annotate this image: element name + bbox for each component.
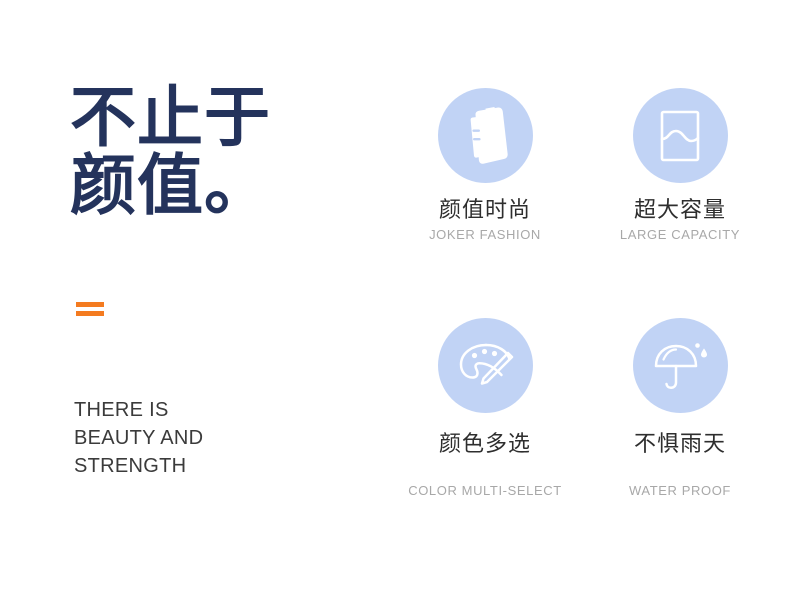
headline-period-mark: 。: [204, 148, 270, 222]
feature-title: 颜色多选: [390, 431, 580, 457]
umbrella-rain-icon: [652, 339, 708, 393]
tagline-line-2: BEAUTY AND: [74, 424, 203, 452]
feature-icon-circle: [633, 88, 728, 183]
feature-item-capacity: 超大容量 LARGE CAPACITY: [585, 88, 775, 243]
feature-icon-circle: [438, 88, 533, 183]
paint-palette-icon: [456, 341, 514, 391]
headline-line-1: 不止于: [70, 84, 390, 150]
feature-title: 颜值时尚: [390, 197, 580, 223]
feature-item-waterproof: 不惧雨天 WATER PROOF: [585, 318, 775, 499]
feature-icon-circle: [633, 318, 728, 413]
feature-title: 超大容量: [585, 197, 775, 223]
english-tagline: THERE IS BEAUTY AND STRENGTH: [74, 396, 203, 480]
tagline-line-1: THERE IS: [74, 396, 203, 424]
headline-line-2: 颜值。: [70, 152, 390, 218]
feature-subtitle: LARGE CAPACITY: [585, 227, 775, 243]
feature-subtitle: WATER PROOF: [585, 483, 775, 499]
feature-icon-circle: [438, 318, 533, 413]
hero-text-block: 不止于 颜值。: [70, 84, 390, 218]
capacity-container-icon: [656, 108, 704, 164]
feature-subtitle: JOKER FASHION: [390, 227, 580, 243]
backpack-icon: [459, 105, 511, 167]
feature-title: 不惧雨天: [585, 431, 775, 457]
tagline-line-3: STRENGTH: [74, 452, 203, 480]
divider-bar-top: [76, 302, 104, 307]
divider-bar-bottom: [76, 311, 104, 316]
feature-item-fashion: 颜值时尚 JOKER FASHION: [390, 88, 580, 243]
feature-subtitle: COLOR MULTI-SELECT: [390, 483, 580, 499]
promo-banner: 不止于 颜值。 THERE IS BEAUTY AND STRENGTH: [0, 0, 790, 606]
headline-line-2-text: 颜值: [70, 148, 204, 222]
orange-double-bar-divider: [76, 302, 104, 316]
feature-item-color: 颜色多选 COLOR MULTI-SELECT: [390, 318, 580, 499]
